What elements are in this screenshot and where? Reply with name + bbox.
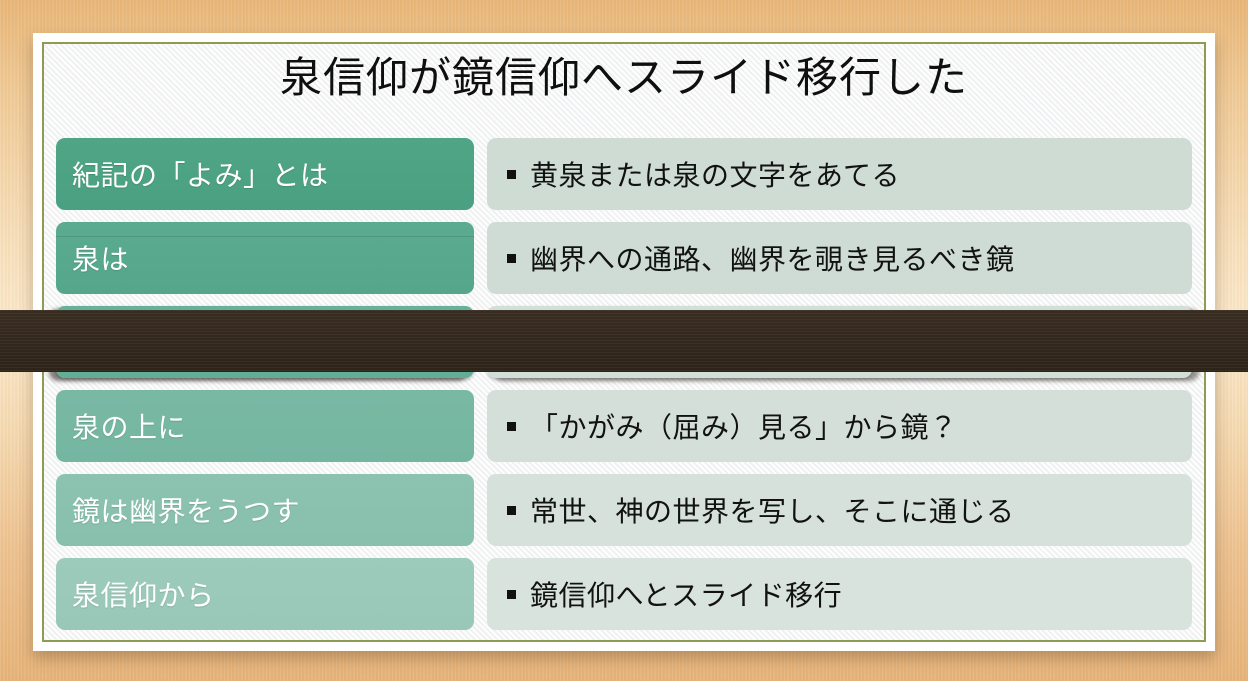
band-edge-artifact [56,236,474,237]
dark-band-behind-slide [0,310,1248,372]
row-label-cell[interactable]: 紀記の「よみ」とは [56,138,474,210]
row-body-text: 鏡信仰へとスライド移行 [530,574,842,614]
row-body-text: 幽界への通路、幽界を覗き見るべき鏡 [530,238,1015,278]
bullet-square-icon [507,170,516,179]
page-title: 泉信仰が鏡信仰へスライド移行した [44,54,1204,102]
row-label-text: 鏡は幽界をうつす [72,490,300,530]
bullet-square-icon [507,590,516,599]
row-body-cell[interactable]: 幽界への通路、幽界を覗き見るべき鏡 [487,222,1192,294]
bullet-square-icon [507,422,516,431]
table-row[interactable]: 泉は 幽界への通路、幽界を覗き見るべき鏡 [56,222,1192,294]
table-row[interactable]: 泉の上に 「かがみ（屈み）見る」から鏡？ [56,390,1192,462]
table-row[interactable]: 紀記の「よみ」とは 黄泉または泉の文字をあてる [56,138,1192,210]
bullet-square-icon [507,506,516,515]
row-label-cell[interactable]: 泉の上に [56,390,474,462]
row-body-cell[interactable]: 鏡信仰へとスライド移行 [487,558,1192,630]
row-label-text: 泉は [72,238,129,278]
row-body-text: 「かがみ（屈み）見る」から鏡？ [530,406,958,446]
table-row[interactable]: 泉信仰から 鏡信仰へとスライド移行 [56,558,1192,630]
dark-band-left-segment [0,310,40,372]
row-body-cell[interactable]: 「かがみ（屈み）見る」から鏡？ [487,390,1192,462]
row-label-text: 泉の上に [72,406,186,446]
row-body-text: 黄泉または泉の文字をあてる [530,154,900,194]
row-label-cell[interactable]: 泉信仰から [56,558,474,630]
row-body-cell[interactable]: 常世、神の世界を写し、そこに通じる [487,474,1192,546]
row-body-text: 常世、神の世界を写し、そこに通じる [530,490,1015,530]
bullet-square-icon [507,254,516,263]
row-body-cell[interactable]: 黄泉または泉の文字をあてる [487,138,1192,210]
row-label-text: 泉信仰から [72,574,215,614]
row-label-text: 紀記の「よみ」とは [72,154,329,194]
dark-band-right-segment [1186,310,1248,372]
row-label-cell[interactable]: 鏡は幽界をうつす [56,474,474,546]
content-table: 紀記の「よみ」とは 黄泉または泉の文字をあてる 泉は 幽界への通路、幽界を覗き見… [56,138,1192,630]
table-row[interactable]: 鏡は幽界をうつす 常世、神の世界を写し、そこに通じる [56,474,1192,546]
row-label-cell[interactable]: 泉は [56,222,474,294]
